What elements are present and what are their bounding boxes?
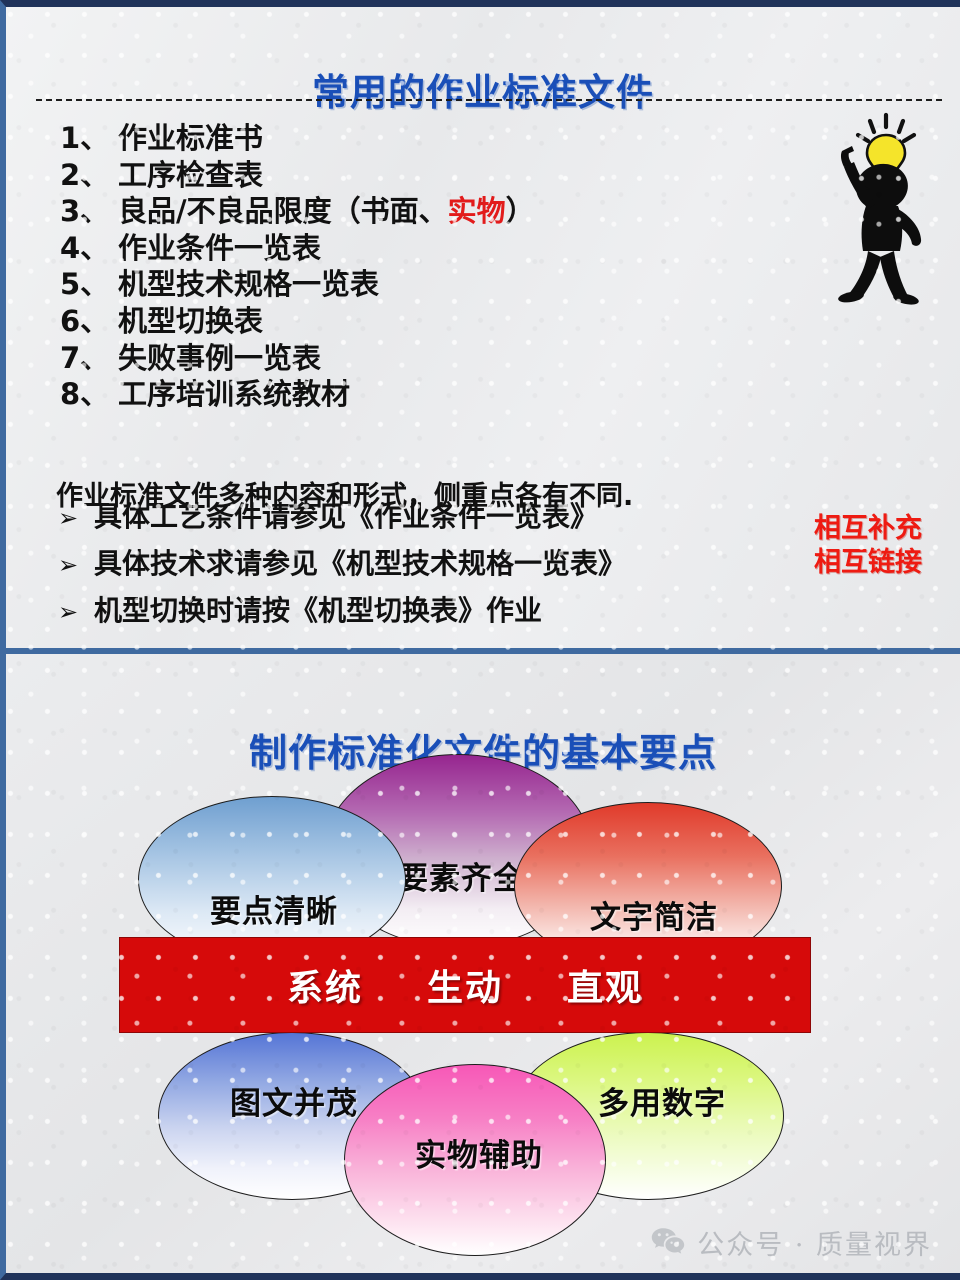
center-keyword: 直观	[567, 959, 643, 1011]
list-item: 8、 工序培训系统教材	[60, 376, 700, 413]
arrow-bullet-icon: ➢	[58, 495, 94, 541]
arrow-bullet-icon: ➢	[58, 542, 94, 588]
bullet-item: ➢ 机型切换时请按《机型切换表》作业	[58, 588, 778, 635]
center-keyword: 系统	[287, 959, 363, 1011]
arrow-bullet-icon: ➢	[58, 589, 94, 635]
list-item-index: 6、	[60, 303, 118, 340]
reference-bullet-list: ➢ 具体工艺条件请参见《作业条件一览表》 ➢ 具体技术求请参见《机型技术规格一览…	[58, 494, 778, 635]
slide-one: 常用的作业标准文件	[6, 7, 960, 648]
list-item-index: 4、	[60, 230, 118, 267]
footer-watermark: 公众号 · 质量视界	[651, 1223, 932, 1262]
side-note-line-2: 相互链接	[814, 546, 922, 580]
bubble-shiwu-fuzhu: 实物辅助	[344, 1064, 606, 1256]
list-item-index: 7、	[60, 340, 118, 377]
watermark-text: 公众号 · 质量视界	[697, 1223, 932, 1262]
wechat-icon	[651, 1227, 685, 1259]
list-item: 7、 失败事例一览表	[60, 340, 700, 377]
list-item-index: 2、	[60, 157, 118, 194]
bubble-label: 实物辅助	[415, 1130, 543, 1175]
list-item: 5、 机型技术规格一览表	[60, 266, 700, 303]
list-item-text-after: ）	[506, 194, 535, 228]
list-item-index: 3、	[60, 193, 118, 230]
stick-figure-with-lightbulb-illustration	[808, 105, 956, 305]
bullet-item: ➢ 具体工艺条件请参见《作业条件一览表》	[58, 494, 778, 541]
title-dashed-divider	[36, 99, 942, 101]
list-item-text-before: 良品/不良品限度（书面、	[118, 194, 448, 228]
bullet-item-label: 机型切换时请按《机型切换表》作业	[94, 588, 542, 634]
list-item-label: 失败事例一览表	[118, 340, 321, 377]
list-item-label: 作业条件一览表	[118, 230, 321, 267]
list-item: 2、 工序检查表	[60, 157, 700, 194]
list-item-label: 机型技术规格一览表	[118, 266, 379, 303]
list-item: 4、 作业条件一览表	[60, 230, 700, 267]
bullet-item: ➢ 具体技术求请参见《机型技术规格一览表》	[58, 541, 778, 588]
center-keyword: 生动	[427, 959, 503, 1011]
list-item: 1、 作业标准书	[60, 120, 700, 157]
list-item-label: 机型切换表	[118, 303, 263, 340]
bubble-label: 多用数字	[598, 1078, 726, 1123]
bubble-label: 要点清晰	[210, 886, 338, 931]
bullet-item-label: 具体技术求请参见《机型技术规格一览表》	[94, 541, 626, 587]
side-note-line-1: 相互补充	[814, 512, 922, 546]
list-item: 6、 机型切换表	[60, 303, 700, 340]
venn-bubble-diagram: 要素齐全 要点清晰 文字简洁 图文并茂 多用数字 实物辅助 系统 生动 直观	[6, 654, 960, 1280]
center-keyword-bar: 系统 生动 直观	[119, 937, 811, 1033]
bubble-label: 文字简洁	[590, 892, 718, 937]
bullet-item-label: 具体工艺条件请参见《作业条件一览表》	[94, 494, 598, 540]
list-item-label: 良品/不良品限度（书面、实物）	[118, 193, 535, 230]
slide-two: 制作标准化文件的基本要点 要素齐全 要点清晰 文字简洁 图文并茂 多用数字 实物…	[6, 654, 960, 1280]
list-item-label: 作业标准书	[118, 120, 263, 157]
slide-divider	[6, 648, 960, 654]
side-note: 相互补充 相互链接	[814, 512, 922, 580]
list-item-label: 工序检查表	[118, 157, 263, 194]
slide-page: 常用的作业标准文件	[0, 0, 960, 1280]
list-item-index: 1、	[60, 120, 118, 157]
list-item-index: 5、	[60, 266, 118, 303]
bubble-label: 要素齐全	[397, 853, 525, 898]
list-item-label: 工序培训系统教材	[118, 376, 350, 413]
list-item-text-highlight: 实物	[448, 194, 506, 228]
numbered-list: 1、 作业标准书 2、 工序检查表 3、 良品/不良品限度（书面、实物） 4、 …	[60, 120, 700, 413]
list-item-index: 8、	[60, 376, 118, 413]
bubble-label: 图文并茂	[230, 1078, 358, 1123]
list-item: 3、 良品/不良品限度（书面、实物）	[60, 193, 700, 230]
